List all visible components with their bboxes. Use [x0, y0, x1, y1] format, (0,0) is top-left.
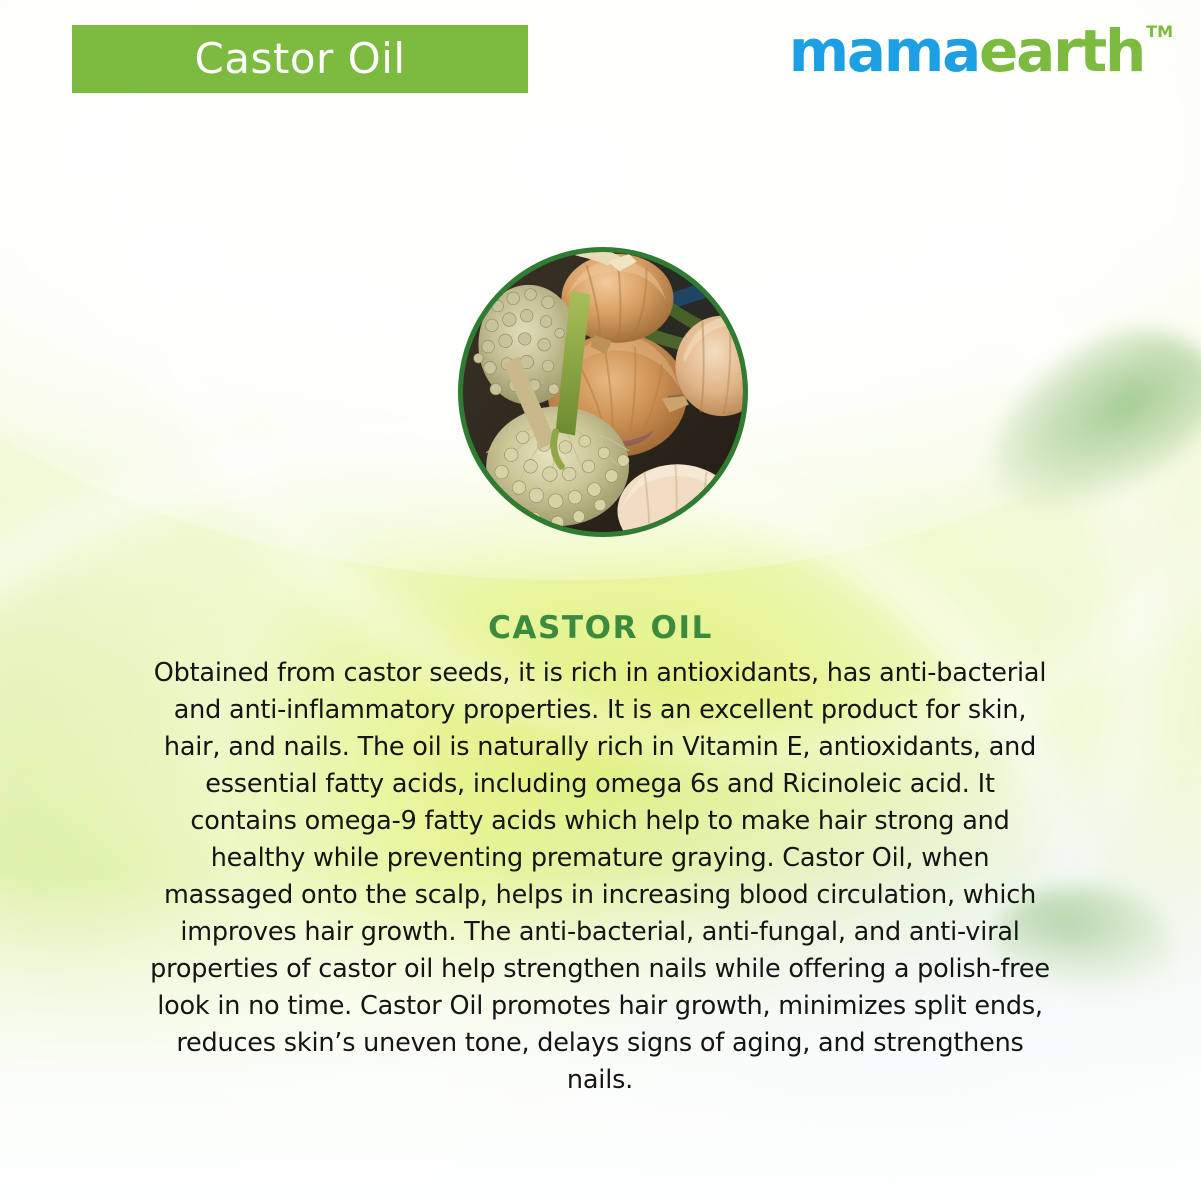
logo-text-earth: earth	[979, 22, 1144, 80]
ingredient-heading: CASTOR OIL	[0, 610, 1201, 646]
logo-text-mama: mama	[789, 22, 979, 80]
mamaearth-logo: mama earth TM	[789, 22, 1173, 80]
product-ingredient-infographic: Castor Oil mama earth TM	[0, 0, 1201, 1200]
ingredient-image-circle	[458, 247, 748, 537]
ingredient-photo	[463, 252, 743, 532]
trademark-icon: TM	[1146, 24, 1173, 40]
banner-title-text: Castor Oil	[194, 38, 405, 80]
ingredient-description: Obtained from castor seeds, it is rich i…	[150, 655, 1050, 1099]
title-banner: Castor Oil	[72, 25, 528, 93]
